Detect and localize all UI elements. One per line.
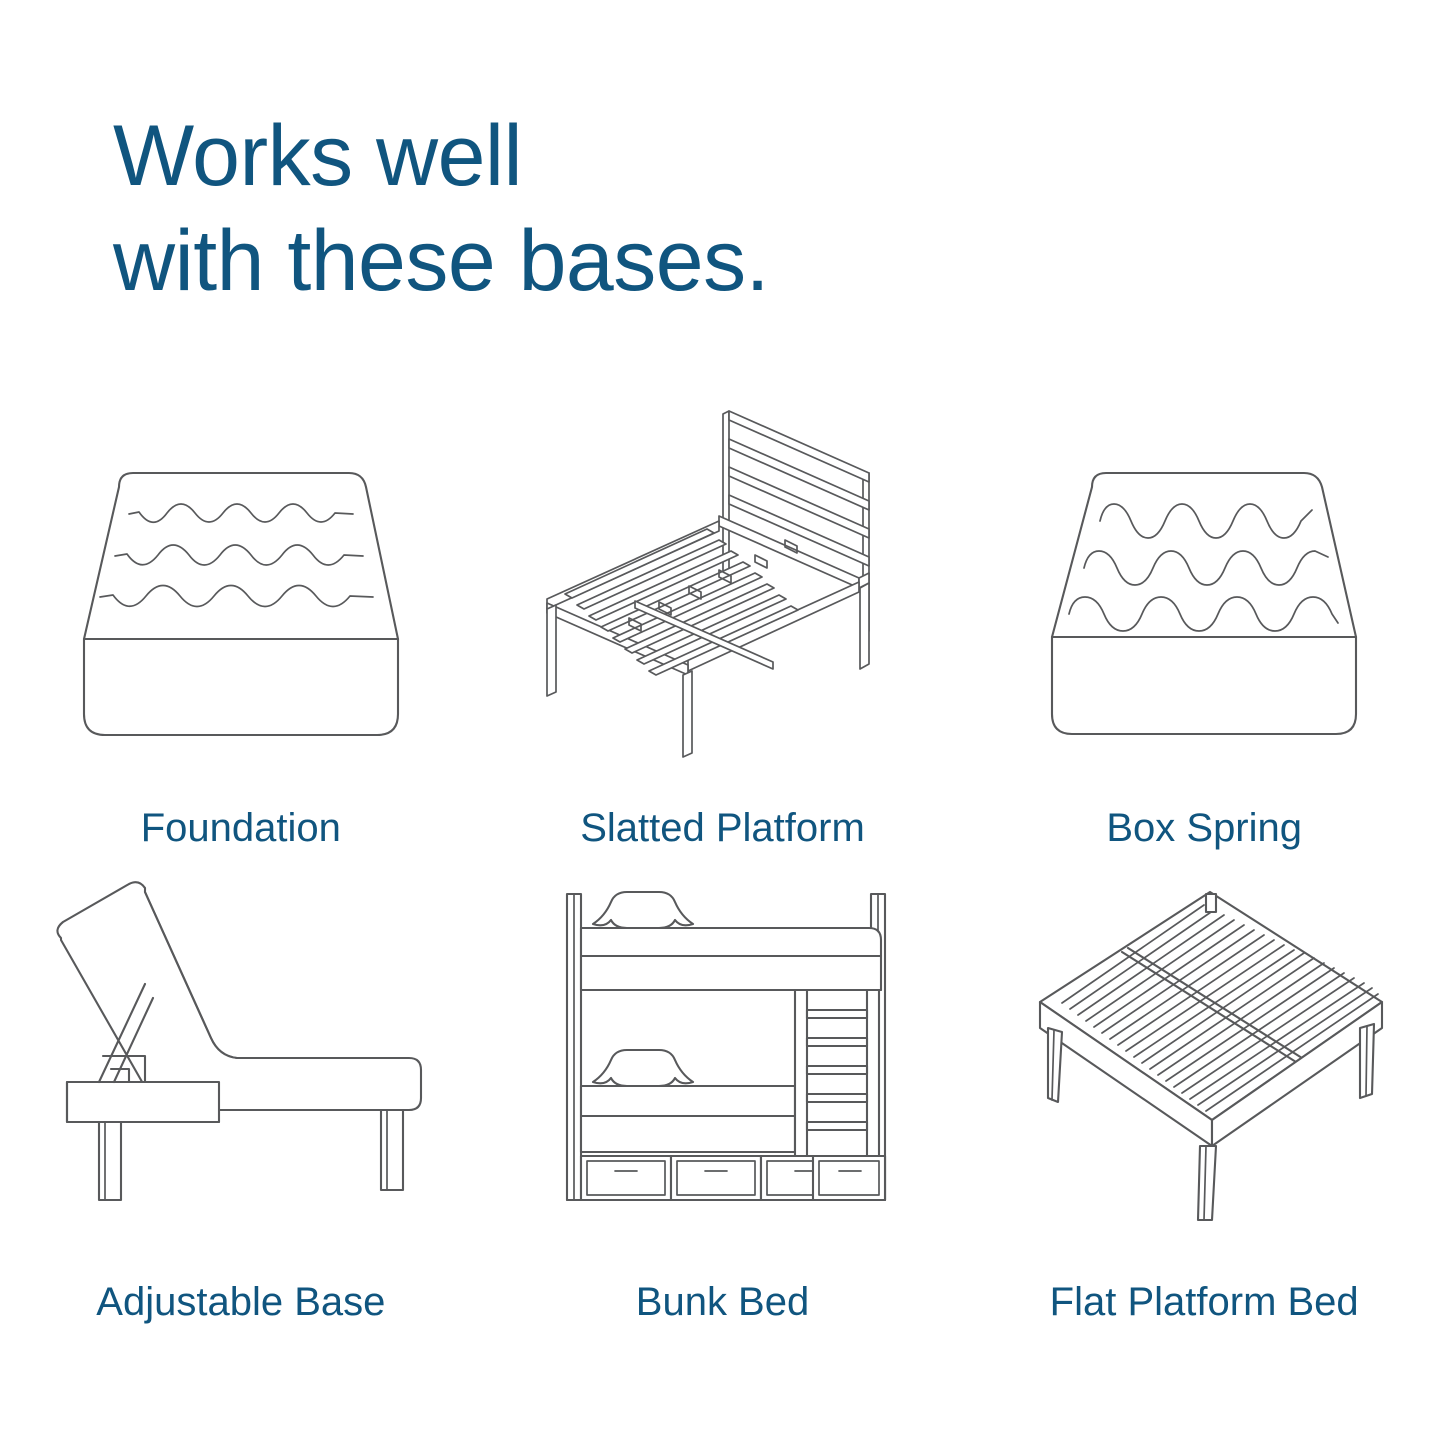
base-card-foundation[interactable]: Foundation — [0, 392, 482, 870]
page-title: Works well with these bases. — [113, 104, 769, 314]
base-label-bunk-bed: Bunk Bed — [636, 1282, 809, 1322]
bases-row-2: Adjustable Base — [0, 870, 1445, 1370]
base-label-box-spring: Box Spring — [1106, 808, 1302, 848]
box-spring-icon — [1004, 392, 1404, 770]
page-root: Works well with these bases. — [0, 0, 1445, 1445]
bases-grid: Foundation — [0, 392, 1445, 1370]
base-card-slatted-platform[interactable]: Slatted Platform — [482, 392, 964, 870]
bunk-bed-icon — [523, 870, 923, 1230]
flat-platform-bed-icon — [1004, 870, 1404, 1230]
base-card-box-spring[interactable]: Box Spring — [963, 392, 1445, 870]
base-card-adjustable-base[interactable]: Adjustable Base — [0, 870, 482, 1370]
base-label-slatted-platform: Slatted Platform — [580, 808, 865, 848]
slatted-platform-bed-icon — [523, 392, 923, 770]
base-card-flat-platform-bed[interactable]: Flat Platform Bed — [963, 870, 1445, 1370]
base-card-bunk-bed[interactable]: Bunk Bed — [482, 870, 964, 1370]
base-label-adjustable-base: Adjustable Base — [96, 1282, 385, 1322]
foundation-mattress-icon — [41, 392, 441, 770]
bases-row-1: Foundation — [0, 392, 1445, 870]
base-label-foundation: Foundation — [141, 808, 341, 848]
adjustable-base-icon — [41, 870, 441, 1230]
base-label-flat-platform-bed: Flat Platform Bed — [1050, 1282, 1359, 1322]
